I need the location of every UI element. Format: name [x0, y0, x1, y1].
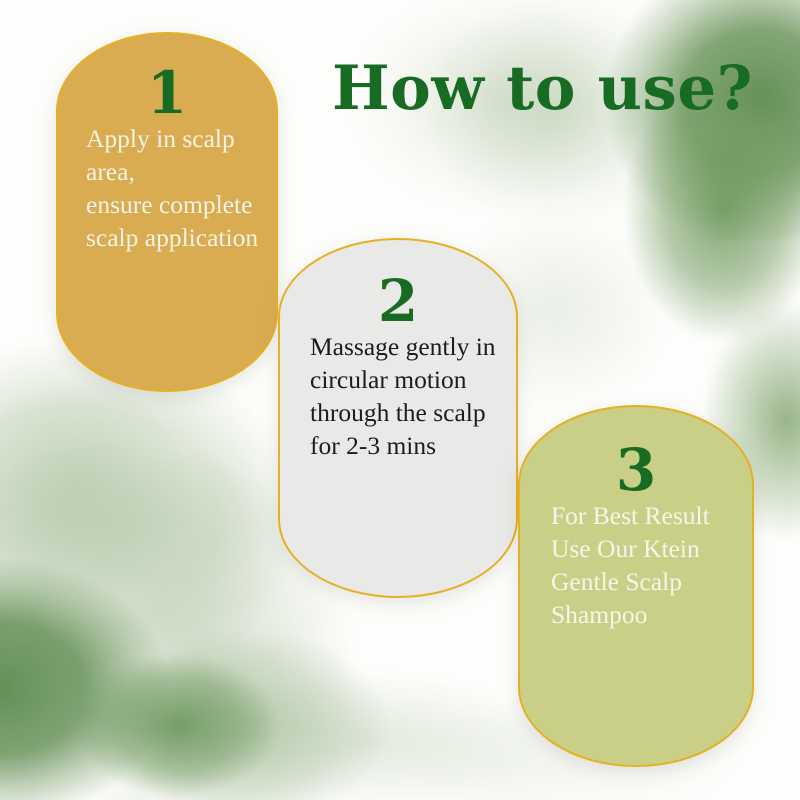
step-text-3: For Best Result Use Our Ktein Gentle Sca…: [533, 499, 739, 632]
step-number-1: 1: [147, 64, 187, 122]
step-card-2-content: 2 Massage gently in circular motion thro…: [280, 240, 516, 596]
step-card-2: 2 Massage gently in circular motion thro…: [278, 238, 518, 598]
step-card-1: 1 Apply in scalp area, ensure complete s…: [56, 32, 278, 392]
watercolor-wash-bottom-left-deep: [0, 545, 270, 800]
page-title: How to use?: [332, 58, 753, 119]
watercolor-wash-bottom-left-mid: [120, 600, 450, 800]
step-card-3-content: 3 For Best Result Use Our Ktein Gentle S…: [520, 407, 752, 765]
step-card-1-content: 1 Apply in scalp area, ensure complete s…: [58, 34, 276, 390]
step-number-3: 3: [616, 441, 656, 499]
step-text-2: Massage gently in circular motion throug…: [294, 330, 502, 463]
step-number-2: 2: [378, 272, 418, 330]
infographic-canvas: How to use? 1 Apply in scalp area, ensur…: [0, 0, 800, 800]
watercolor-wash-top-right-pale: [410, 0, 740, 260]
watercolor-wash-left-pale-2: [0, 360, 240, 660]
step-text-1: Apply in scalp area, ensure complete sca…: [74, 122, 260, 255]
watercolor-wash-bottom-left-deep-2: [60, 640, 320, 800]
step-card-3: 3 For Best Result Use Our Ktein Gentle S…: [518, 405, 754, 767]
